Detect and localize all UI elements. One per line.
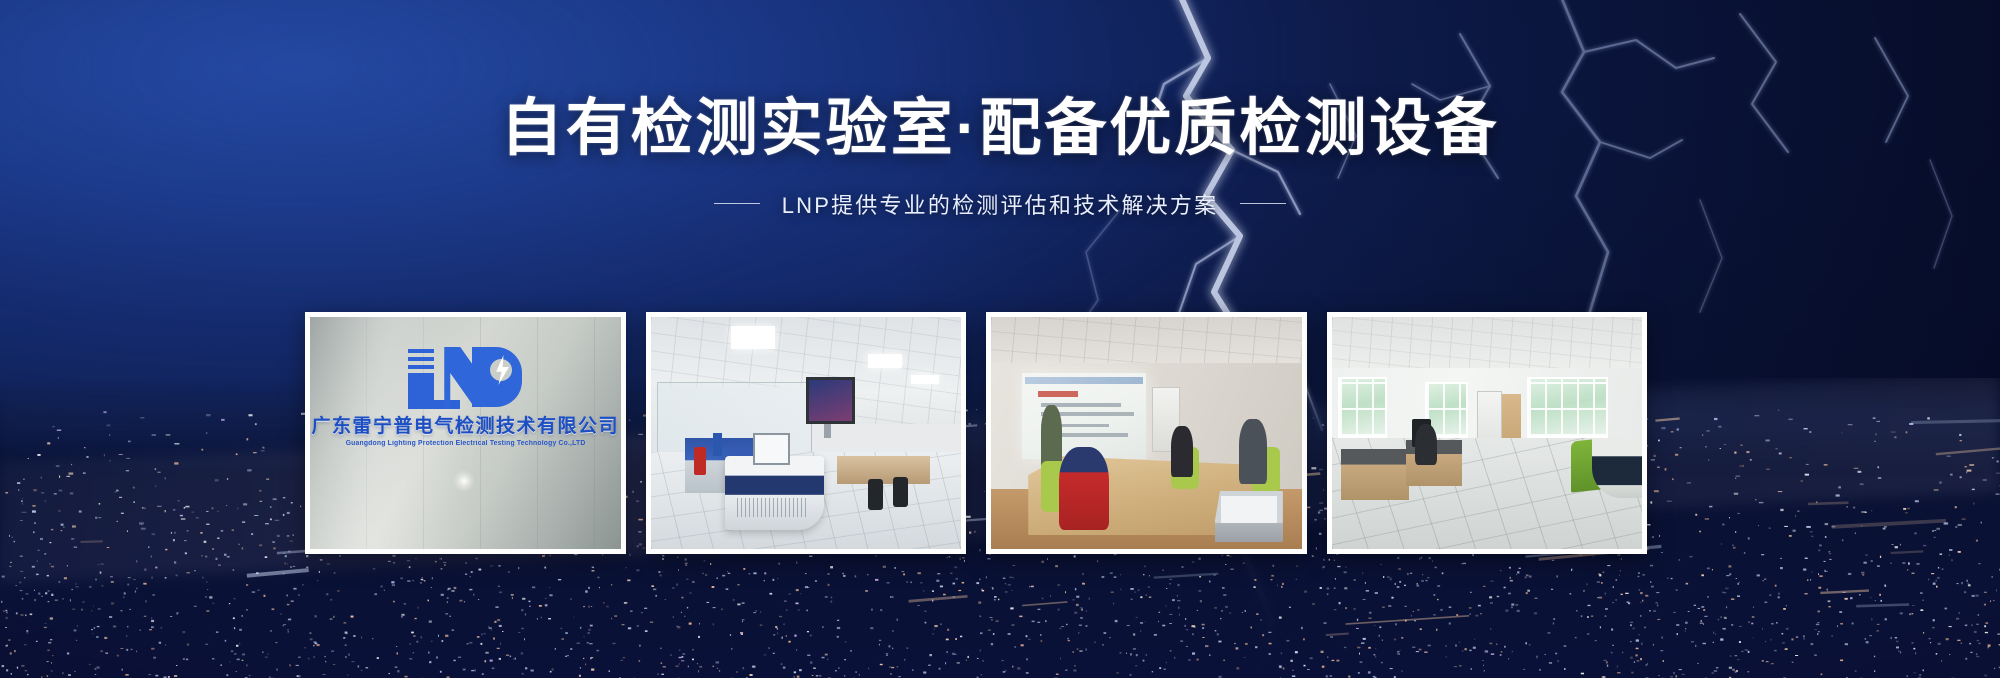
lab-ceiling-light <box>731 326 774 349</box>
lnp-logo-icon <box>406 343 524 409</box>
rule-left-icon <box>714 203 760 204</box>
office-ceiling <box>1332 317 1643 373</box>
lab-workbench <box>837 456 930 484</box>
window-mullions <box>1340 379 1386 435</box>
person-seated-red <box>1059 447 1109 531</box>
wall-light-spot <box>453 470 475 492</box>
meeting-ceiling <box>991 317 1302 368</box>
person-seated-left <box>1171 426 1193 477</box>
company-logo: 广东雷宁普电气检测技术有限公司 Guangdong Lighting Prote… <box>310 343 621 447</box>
gallery-photo-office-area[interactable] <box>1327 312 1648 554</box>
gallery-photo-company-signage[interactable]: 广东雷宁普电气检测技术有限公司 Guangdong Lighting Prote… <box>305 312 626 554</box>
lab-chair <box>893 477 909 507</box>
reception-counter <box>1592 438 1642 498</box>
lab-control-console <box>725 456 824 530</box>
window-mullions <box>1529 379 1606 435</box>
logo-letter-l-base <box>408 400 460 409</box>
office-desk <box>1341 449 1409 500</box>
office-window <box>1338 377 1388 437</box>
person-seated-right <box>1239 419 1267 484</box>
lab-chair <box>868 479 884 509</box>
slide-titlebar <box>1025 377 1143 384</box>
meeting-ceiling-grid <box>991 317 1302 368</box>
page-title: 自有检测实验室·配备优质检测设备 <box>0 96 2000 162</box>
rule-right-icon <box>1240 203 1286 204</box>
page-subtitle: LNP提供专业的检测评估和技术解决方案 <box>782 188 1219 220</box>
lab-rig-red-part <box>694 447 706 475</box>
hero-banner: 自有检测实验室·配备优质检测设备 LNP提供专业的检测评估和技术解决方案 <box>0 0 2000 678</box>
subtitle-row: LNP提供专业的检测评估和技术解决方案 <box>0 188 2000 220</box>
lab-ceiling-light <box>868 354 902 368</box>
office-ceiling-grid <box>1332 317 1643 373</box>
company-name-en: Guangdong Lighting Protection Electrical… <box>345 440 585 447</box>
logo-bars <box>408 349 434 377</box>
photo-image-company-signage: 广东雷宁普电气检测技术有限公司 Guangdong Lighting Prote… <box>310 317 621 549</box>
lab-console-vents <box>737 498 805 517</box>
photo-gallery: 广东雷宁普电气检测技术有限公司 Guangdong Lighting Prote… <box>305 312 1647 554</box>
slide-heading <box>1038 391 1078 397</box>
headline-block: 自有检测实验室·配备优质检测设备 LNP提供专业的检测评估和技术解决方案 <box>0 96 2000 220</box>
gallery-photo-meeting-room[interactable] <box>986 312 1307 554</box>
office-scene <box>1332 317 1643 549</box>
lab-scene <box>651 317 962 549</box>
lab-monitor-mount <box>824 424 830 438</box>
photo-image-office-area <box>1332 317 1643 549</box>
meeting-scene <box>991 317 1302 549</box>
gallery-photo-testing-laboratory[interactable] <box>646 312 967 554</box>
photo-image-meeting-room <box>991 317 1302 549</box>
lab-wall-monitor <box>806 377 856 423</box>
person-at-desk <box>1415 424 1437 466</box>
laptop-screen <box>1221 496 1277 524</box>
photo-image-testing-laboratory <box>651 317 962 549</box>
lab-console-monitor <box>753 433 790 465</box>
company-name-cn: 广东雷宁普电气检测技术有限公司 <box>311 411 619 438</box>
lab-rig-blue-part <box>713 433 722 456</box>
office-window <box>1527 377 1608 437</box>
lab-ceiling-light <box>911 375 939 384</box>
